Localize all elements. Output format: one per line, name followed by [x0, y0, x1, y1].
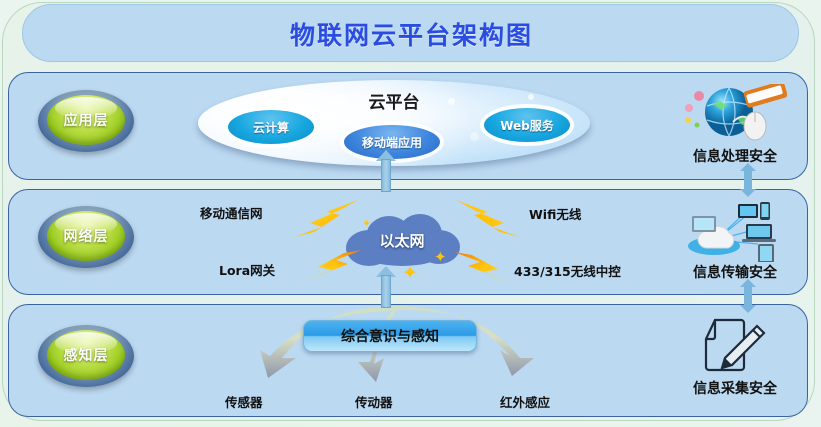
web-service-pill[interactable]: Web服务: [484, 108, 570, 142]
lightning-bolt-icon: [292, 198, 364, 240]
application-layer-badge[interactable]: 应用层: [38, 90, 134, 154]
infrared-sensing-label: 红外感应: [500, 392, 550, 411]
perception-to-network-arrow: [376, 150, 396, 192]
info-transmission-security[interactable]: 信息传输安全: [660, 200, 810, 282]
document-pencil-icon: [660, 316, 810, 378]
rf-central-control-label: 433/315无线中控: [514, 261, 621, 280]
title-banner: 物联网云平台架构图: [22, 4, 799, 62]
arrow-bar: [744, 286, 752, 306]
info-processing-security[interactable]: 信息处理安全: [660, 84, 810, 166]
arrow-bar: [744, 170, 752, 190]
perception-layer-badge[interactable]: 感知层: [38, 325, 134, 389]
cloud-devices-icon: [660, 200, 810, 262]
mobile-comm-network-label: 移动通信网: [200, 203, 263, 222]
transmission-collection-link-arrow: [740, 279, 756, 313]
info-transmission-security-label: 信息传输安全: [660, 262, 810, 282]
sparkle-icon: ✦: [434, 250, 447, 265]
info-collection-security[interactable]: 信息采集安全: [660, 316, 810, 398]
processing-transmission-link-arrow: [740, 163, 756, 197]
wifi-wireless-label: Wifi无线: [529, 204, 581, 223]
network-to-application-arrow: [376, 266, 396, 308]
info-processing-security-label: 信息处理安全: [660, 146, 810, 166]
cloud-computing-pill[interactable]: 云计算: [228, 110, 314, 144]
bubble-decor: [470, 132, 479, 141]
arrow-stem: [381, 159, 391, 192]
application-layer-label: 应用层: [38, 90, 134, 150]
perception-box[interactable]: 综合意识与感知: [303, 320, 477, 352]
actuator-label: 传动器: [355, 392, 393, 411]
globe-mouse-icon: [660, 84, 810, 146]
sparkle-icon: ✦: [402, 264, 418, 283]
page-title: 物联网云平台架构图: [23, 5, 800, 63]
perception-layer-label: 感知层: [38, 325, 134, 385]
network-layer-badge[interactable]: 网络层: [38, 206, 134, 270]
network-layer-label: 网络层: [38, 206, 134, 266]
lora-gateway-label: Lora网关: [219, 260, 275, 279]
lightning-bolt-icon: [452, 250, 518, 288]
lightning-bolt-icon: [300, 248, 366, 286]
lightning-bolt-icon: [450, 198, 522, 240]
arrow-head-down: [740, 189, 756, 197]
arrow-head-down: [740, 305, 756, 313]
sensor-label: 传感器: [225, 392, 263, 411]
arrow-stem: [381, 275, 391, 308]
info-collection-security-label: 信息采集安全: [660, 378, 810, 398]
